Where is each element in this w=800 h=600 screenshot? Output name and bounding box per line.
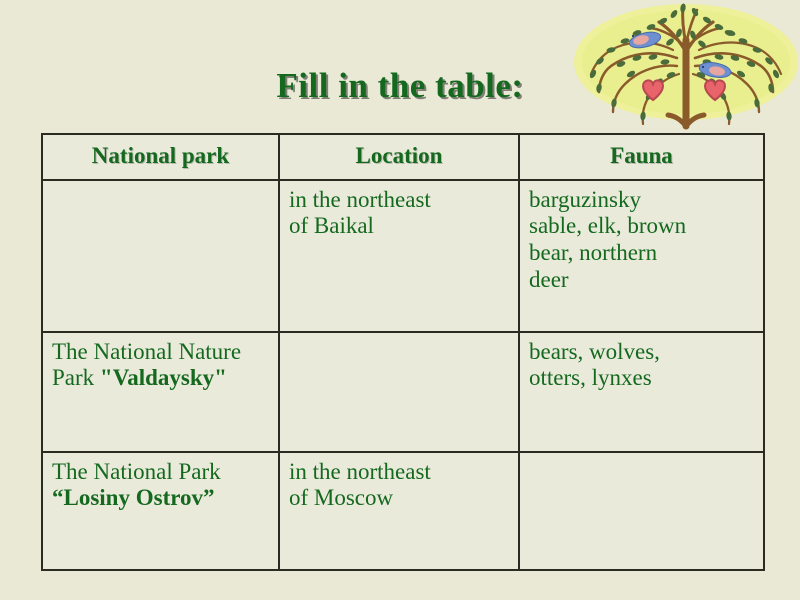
park-quoted-2: "Valdaysky" bbox=[100, 365, 227, 390]
cell-fauna-2[interactable]: bears, wolves, otters, lynxes bbox=[519, 332, 764, 452]
page-title: Fill in the table: bbox=[0, 68, 800, 103]
location-line-1a: in the northeast bbox=[289, 187, 509, 214]
cell-location-2[interactable] bbox=[279, 332, 519, 452]
park-plain-3: The National Park bbox=[52, 459, 221, 484]
column-header-national-park: National park bbox=[42, 134, 279, 180]
column-header-fauna: Fauna bbox=[519, 134, 764, 180]
tree-branches bbox=[591, 6, 781, 126]
location-line-3a: in the northeast bbox=[289, 459, 509, 486]
fauna-line-1a: barguzinsky bbox=[529, 187, 754, 214]
column-header-location: Location bbox=[279, 134, 519, 180]
fauna-line-2a: bears, wolves, bbox=[529, 339, 754, 366]
location-line-1b: of Baikal bbox=[289, 213, 509, 240]
cell-park-2[interactable]: The National Nature Park "Valdaysky" bbox=[42, 332, 279, 452]
bird-upper-left bbox=[628, 29, 662, 50]
tree-leaves bbox=[589, 3, 781, 121]
tree-decoration bbox=[567, 0, 800, 133]
fill-in-table: National park Location Fauna in the nort… bbox=[41, 133, 765, 571]
cell-fauna-1[interactable]: barguzinsky sable, elk, brown bear, nort… bbox=[519, 180, 764, 332]
table-row: The National Park “Losiny Ostrov” in the… bbox=[42, 452, 764, 570]
fauna-line-2b: otters, lynxes bbox=[529, 365, 754, 392]
table-row: in the northeast of Baikal barguzinsky s… bbox=[42, 180, 764, 332]
cell-park-1[interactable] bbox=[42, 180, 279, 332]
park-quoted-3: “Losiny Ostrov” bbox=[52, 485, 215, 510]
table-header-row: National park Location Fauna bbox=[42, 134, 764, 180]
table-row: The National Nature Park "Valdaysky" bea… bbox=[42, 332, 764, 452]
cell-park-3[interactable]: The National Park “Losiny Ostrov” bbox=[42, 452, 279, 570]
fauna-line-1b: sable, elk, brown bbox=[529, 213, 754, 240]
cell-fauna-3[interactable] bbox=[519, 452, 764, 570]
fauna-line-1d: deer bbox=[529, 267, 754, 294]
location-line-3b: of Moscow bbox=[289, 485, 509, 512]
fauna-line-1c: bear, northern bbox=[529, 240, 754, 267]
cell-location-1[interactable]: in the northeast of Baikal bbox=[279, 180, 519, 332]
tree-illustration bbox=[567, 0, 800, 133]
cell-location-3[interactable]: in the northeast of Moscow bbox=[279, 452, 519, 570]
